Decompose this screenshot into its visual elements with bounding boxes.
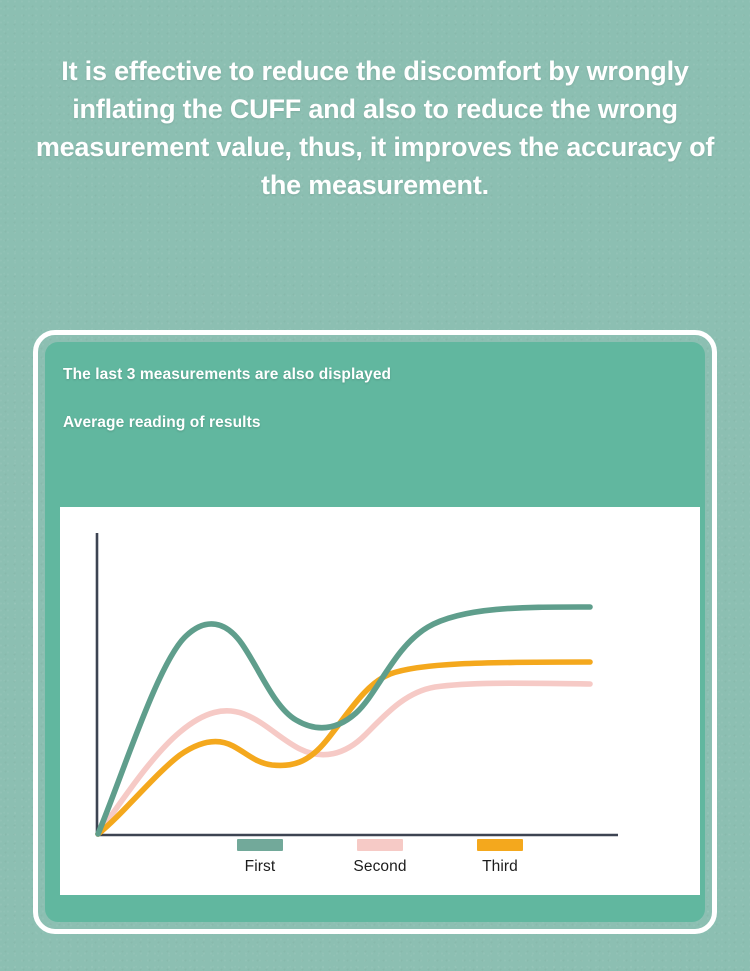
legend-swatch-third xyxy=(477,839,523,851)
chart-legend: First Second Third xyxy=(60,839,700,895)
headline-text: It is effective to reduce the discomfort… xyxy=(0,52,750,204)
legend-swatch-first xyxy=(237,839,283,851)
measurement-line-chart xyxy=(60,507,700,847)
measurement-card: The last 3 measurements are also display… xyxy=(45,342,705,922)
series-line-first xyxy=(98,607,590,834)
chart-panel: First Second Third xyxy=(60,507,700,895)
legend-label-third: Third xyxy=(482,858,518,876)
legend-label-second: Second xyxy=(353,858,406,876)
legend-item-third[interactable]: Third xyxy=(441,839,559,876)
legend-item-second[interactable]: Second xyxy=(321,839,439,876)
legend-swatch-second xyxy=(357,839,403,851)
card-caption-line-1: The last 3 measurements are also display… xyxy=(63,366,391,384)
legend-label-first: First xyxy=(245,858,276,876)
card-caption-line-2: Average reading of results xyxy=(63,414,261,432)
legend-item-first[interactable]: First xyxy=(201,839,319,876)
